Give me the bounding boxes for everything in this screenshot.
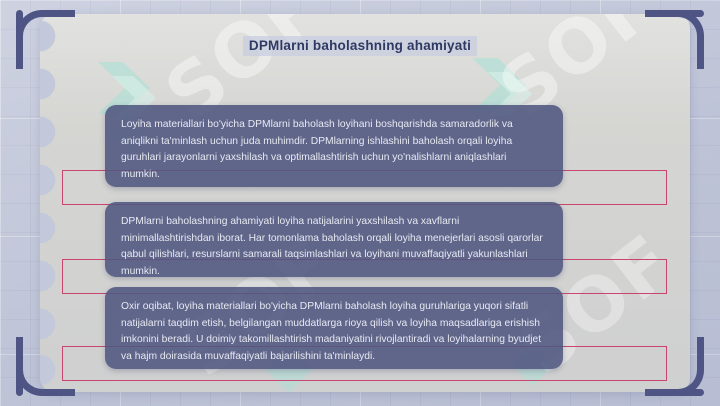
content-box-3-text: Oxir oqibat, loyiha materiallari bo'yich… xyxy=(121,299,547,366)
content-box-1: Loyiha materiallari bo'yicha DPMlarni ba… xyxy=(105,105,563,187)
content-box-2: DPMlarni baholashning ahamiyati loyiha n… xyxy=(105,202,563,277)
content-box-1-text: Loyiha materiallari bo'yicha DPMlarni ba… xyxy=(121,117,547,184)
content-box-3: Oxir oqibat, loyiha materiallari bo'yich… xyxy=(105,287,563,369)
content-box-2-text: DPMlarni baholashning ahamiyati loyiha n… xyxy=(121,214,547,281)
slide-canvas: SOF SOF SOF SOF DPMlarni baholashning ah… xyxy=(0,0,720,406)
